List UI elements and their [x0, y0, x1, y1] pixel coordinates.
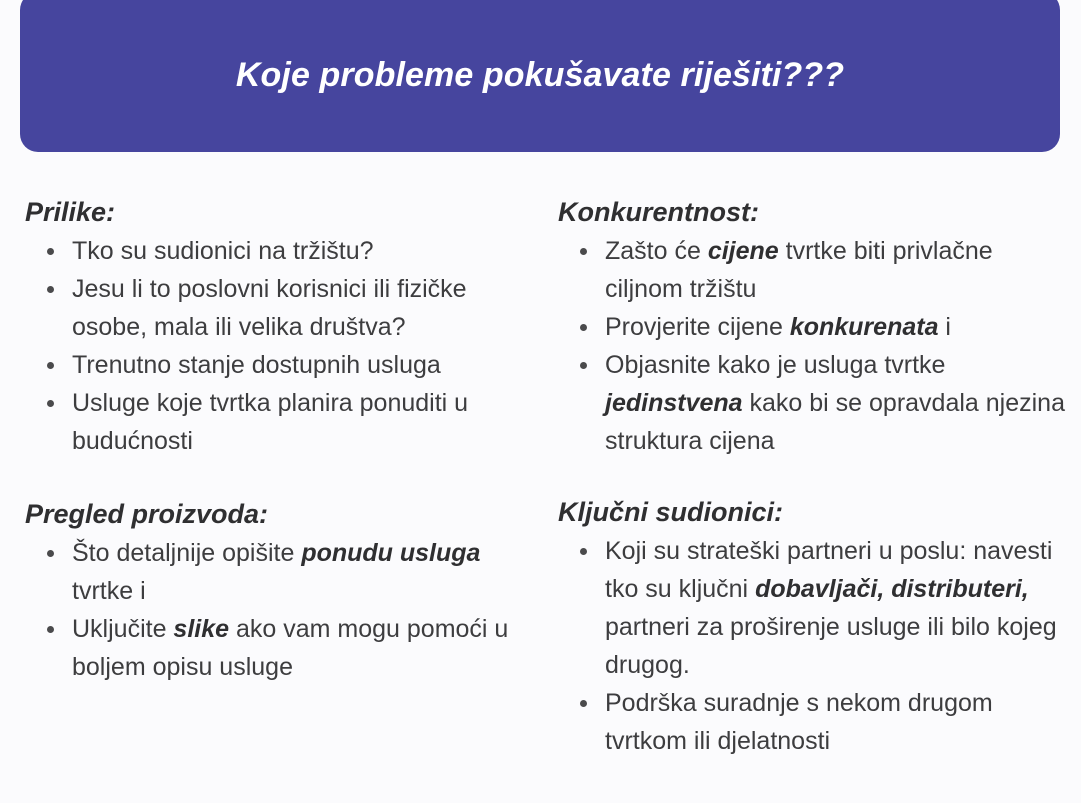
section-heading: Ključni sudionici: [558, 496, 1067, 530]
item-text: tvrtke i [72, 577, 146, 605]
list-item: Jesu li to poslovni korisnici ili fizičk… [25, 270, 530, 346]
section-heading: Prilike: [25, 196, 530, 230]
left-column: Prilike:Tko su sudionici na tržištu?Jesu… [0, 196, 540, 803]
emphasis-text: cijene [708, 237, 779, 265]
item-text: Uključite [72, 615, 173, 643]
item-text: Objasnite kako je usluga tvrtke [605, 351, 945, 379]
section-heading: Pregled proizvoda: [25, 498, 530, 532]
item-text: Podrška suradnje s nekom drugom tvrtkom … [605, 689, 993, 755]
bullet-list: Tko su sudionici na tržištu?Jesu li to p… [25, 232, 530, 460]
list-item: Podrška suradnje s nekom drugom tvrtkom … [558, 684, 1067, 760]
list-item: Zašto će cijene tvrtke biti privlačne ci… [558, 232, 1067, 308]
list-item: Koji su strateški partneri u poslu: nave… [558, 532, 1067, 684]
list-item: Usluge koje tvrtka planira ponuditi u bu… [25, 384, 530, 460]
content-columns: Prilike:Tko su sudionici na tržištu?Jesu… [0, 196, 1081, 803]
list-item: Trenutno stanje dostupnih usluga [25, 346, 530, 384]
list-item: Uključite slike ako vam mogu pomoći u bo… [25, 610, 530, 686]
right-column: Konkurentnost:Zašto će cijene tvrtke bit… [540, 196, 1081, 803]
emphasis-text: ponudu usluga [301, 539, 480, 567]
emphasis-text: dobavljači, distributeri, [755, 575, 1029, 603]
list-item: Što detaljnije opišite ponudu usluga tvr… [25, 534, 530, 610]
item-text: Trenutno stanje dostupnih usluga [72, 351, 441, 379]
section-left-2: Pregled proizvoda:Što detaljnije opišite… [25, 498, 530, 686]
item-text: Zašto će [605, 237, 708, 265]
emphasis-text: jedinstvena [605, 389, 743, 417]
page-title: Koje probleme pokušavate riješiti??? [236, 56, 844, 95]
list-item: Provjerite cijene konkurenata i [558, 308, 1067, 346]
bullet-list: Što detaljnije opišite ponudu usluga tvr… [25, 534, 530, 686]
emphasis-text: slike [173, 615, 229, 643]
item-text: Tko su sudionici na tržištu? [72, 237, 374, 265]
header-banner: Koje probleme pokušavate riješiti??? [20, 0, 1060, 152]
item-text: partneri za proširenje usluge ili bilo k… [605, 613, 1057, 679]
bullet-list: Koji su strateški partneri u poslu: nave… [558, 532, 1067, 760]
section-right-1: Konkurentnost:Zašto će cijene tvrtke bit… [558, 196, 1067, 460]
item-text: Usluge koje tvrtka planira ponuditi u bu… [72, 389, 468, 455]
section-heading: Konkurentnost: [558, 196, 1067, 230]
bullet-list: Zašto će cijene tvrtke biti privlačne ci… [558, 232, 1067, 460]
item-text: Što detaljnije opišite [72, 539, 301, 567]
item-text: i [938, 313, 951, 341]
item-text: Provjerite cijene [605, 313, 790, 341]
section-left-1: Prilike:Tko su sudionici na tržištu?Jesu… [25, 196, 530, 460]
list-item: Tko su sudionici na tržištu? [25, 232, 530, 270]
section-right-2: Ključni sudionici:Koji su strateški part… [558, 496, 1067, 760]
emphasis-text: konkurenata [790, 313, 939, 341]
list-item: Objasnite kako je usluga tvrtke jedinstv… [558, 346, 1067, 460]
item-text: Jesu li to poslovni korisnici ili fizičk… [72, 275, 467, 341]
